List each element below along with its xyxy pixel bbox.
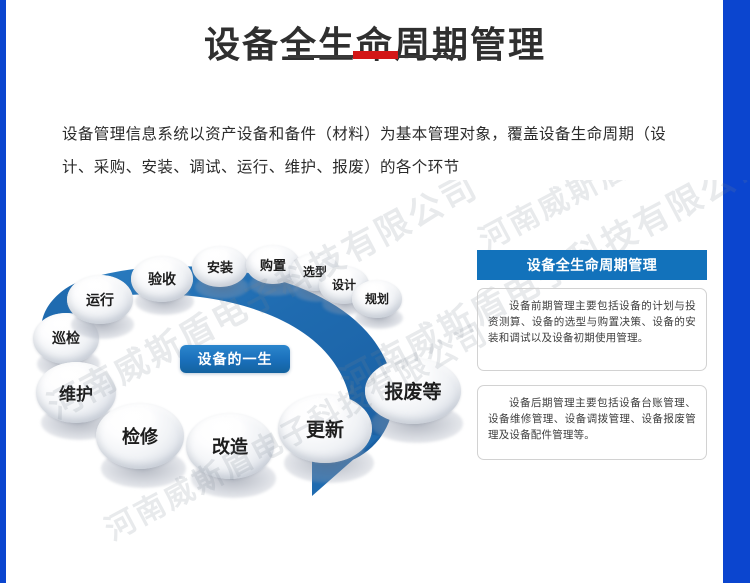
right-edge-bar [723,0,750,583]
info-panel-title: 设备全生命周期管理 [527,255,658,275]
bubble-label: 规划 [352,280,402,318]
lifecycle-stage-bubble: 规划 [352,280,402,326]
lifecycle-stage-bubble: 检修 [96,403,184,483]
intro-description: 设备管理信息系统以资产设备和备件（材料）为基本管理对象，覆盖设备生命周期（设计、… [62,118,694,184]
bubble-label: 更新 [278,394,372,463]
info-panel-box-early: 设备前期管理主要包括设备的计划与投资测算、设备的选型与购置决策、设备的安装和调试… [477,288,707,371]
lifecycle-stage-bubble: 报废等 [365,358,461,438]
info-panel-box-late: 设备后期管理主要包括设备台账管理、设备维修管理、设备调拨管理、设备报废管理及设备… [477,385,707,460]
info-panel: 设备全生命周期管理 设备前期管理主要包括设备的计划与投资测算、设备的选型与购置决… [477,250,707,460]
bubble-label: 改造 [186,413,274,479]
lifecycle-stage-bubble: 更新 [278,394,372,478]
info-panel-text-early: 设备前期管理主要包括设备的计划与投资测算、设备的选型与购置决策、设备的安装和调试… [488,298,696,346]
bubble-label: 报废等 [365,358,461,424]
lifecycle-stage-bubble: 验收 [131,256,193,312]
bubble-label: 运行 [67,275,133,324]
bubble-label: 验收 [131,256,193,302]
info-panel-header: 设备全生命周期管理 [477,250,707,280]
watermark-text: 河南威斯盾电子科技有限公司 [470,180,750,259]
lifecycle-stage-bubble: 安装 [192,246,248,296]
bubble-label: 检修 [96,403,184,469]
page-title-block: 设备全生命周期管理 [0,22,750,68]
page-root: 设备全生命周期管理 设备管理信息系统以资产设备和备件（材料）为基本管理对象，覆盖… [0,0,750,583]
title-underline-accent [353,51,398,59]
left-edge-bar [0,0,6,583]
lifecycle-stage-bubble: 改造 [186,413,274,493]
page-title: 设备全生命周期管理 [0,22,750,68]
info-panel-text-late: 设备后期管理主要包括设备台账管理、设备维修管理、设备调拨管理、设备报废管理及设备… [488,395,696,443]
bubble-label: 安装 [192,246,248,287]
center-label-text: 设备的一生 [198,349,273,369]
center-label-pill: 设备的一生 [180,345,290,373]
lifecycle-stage-bubble: 运行 [67,275,133,335]
